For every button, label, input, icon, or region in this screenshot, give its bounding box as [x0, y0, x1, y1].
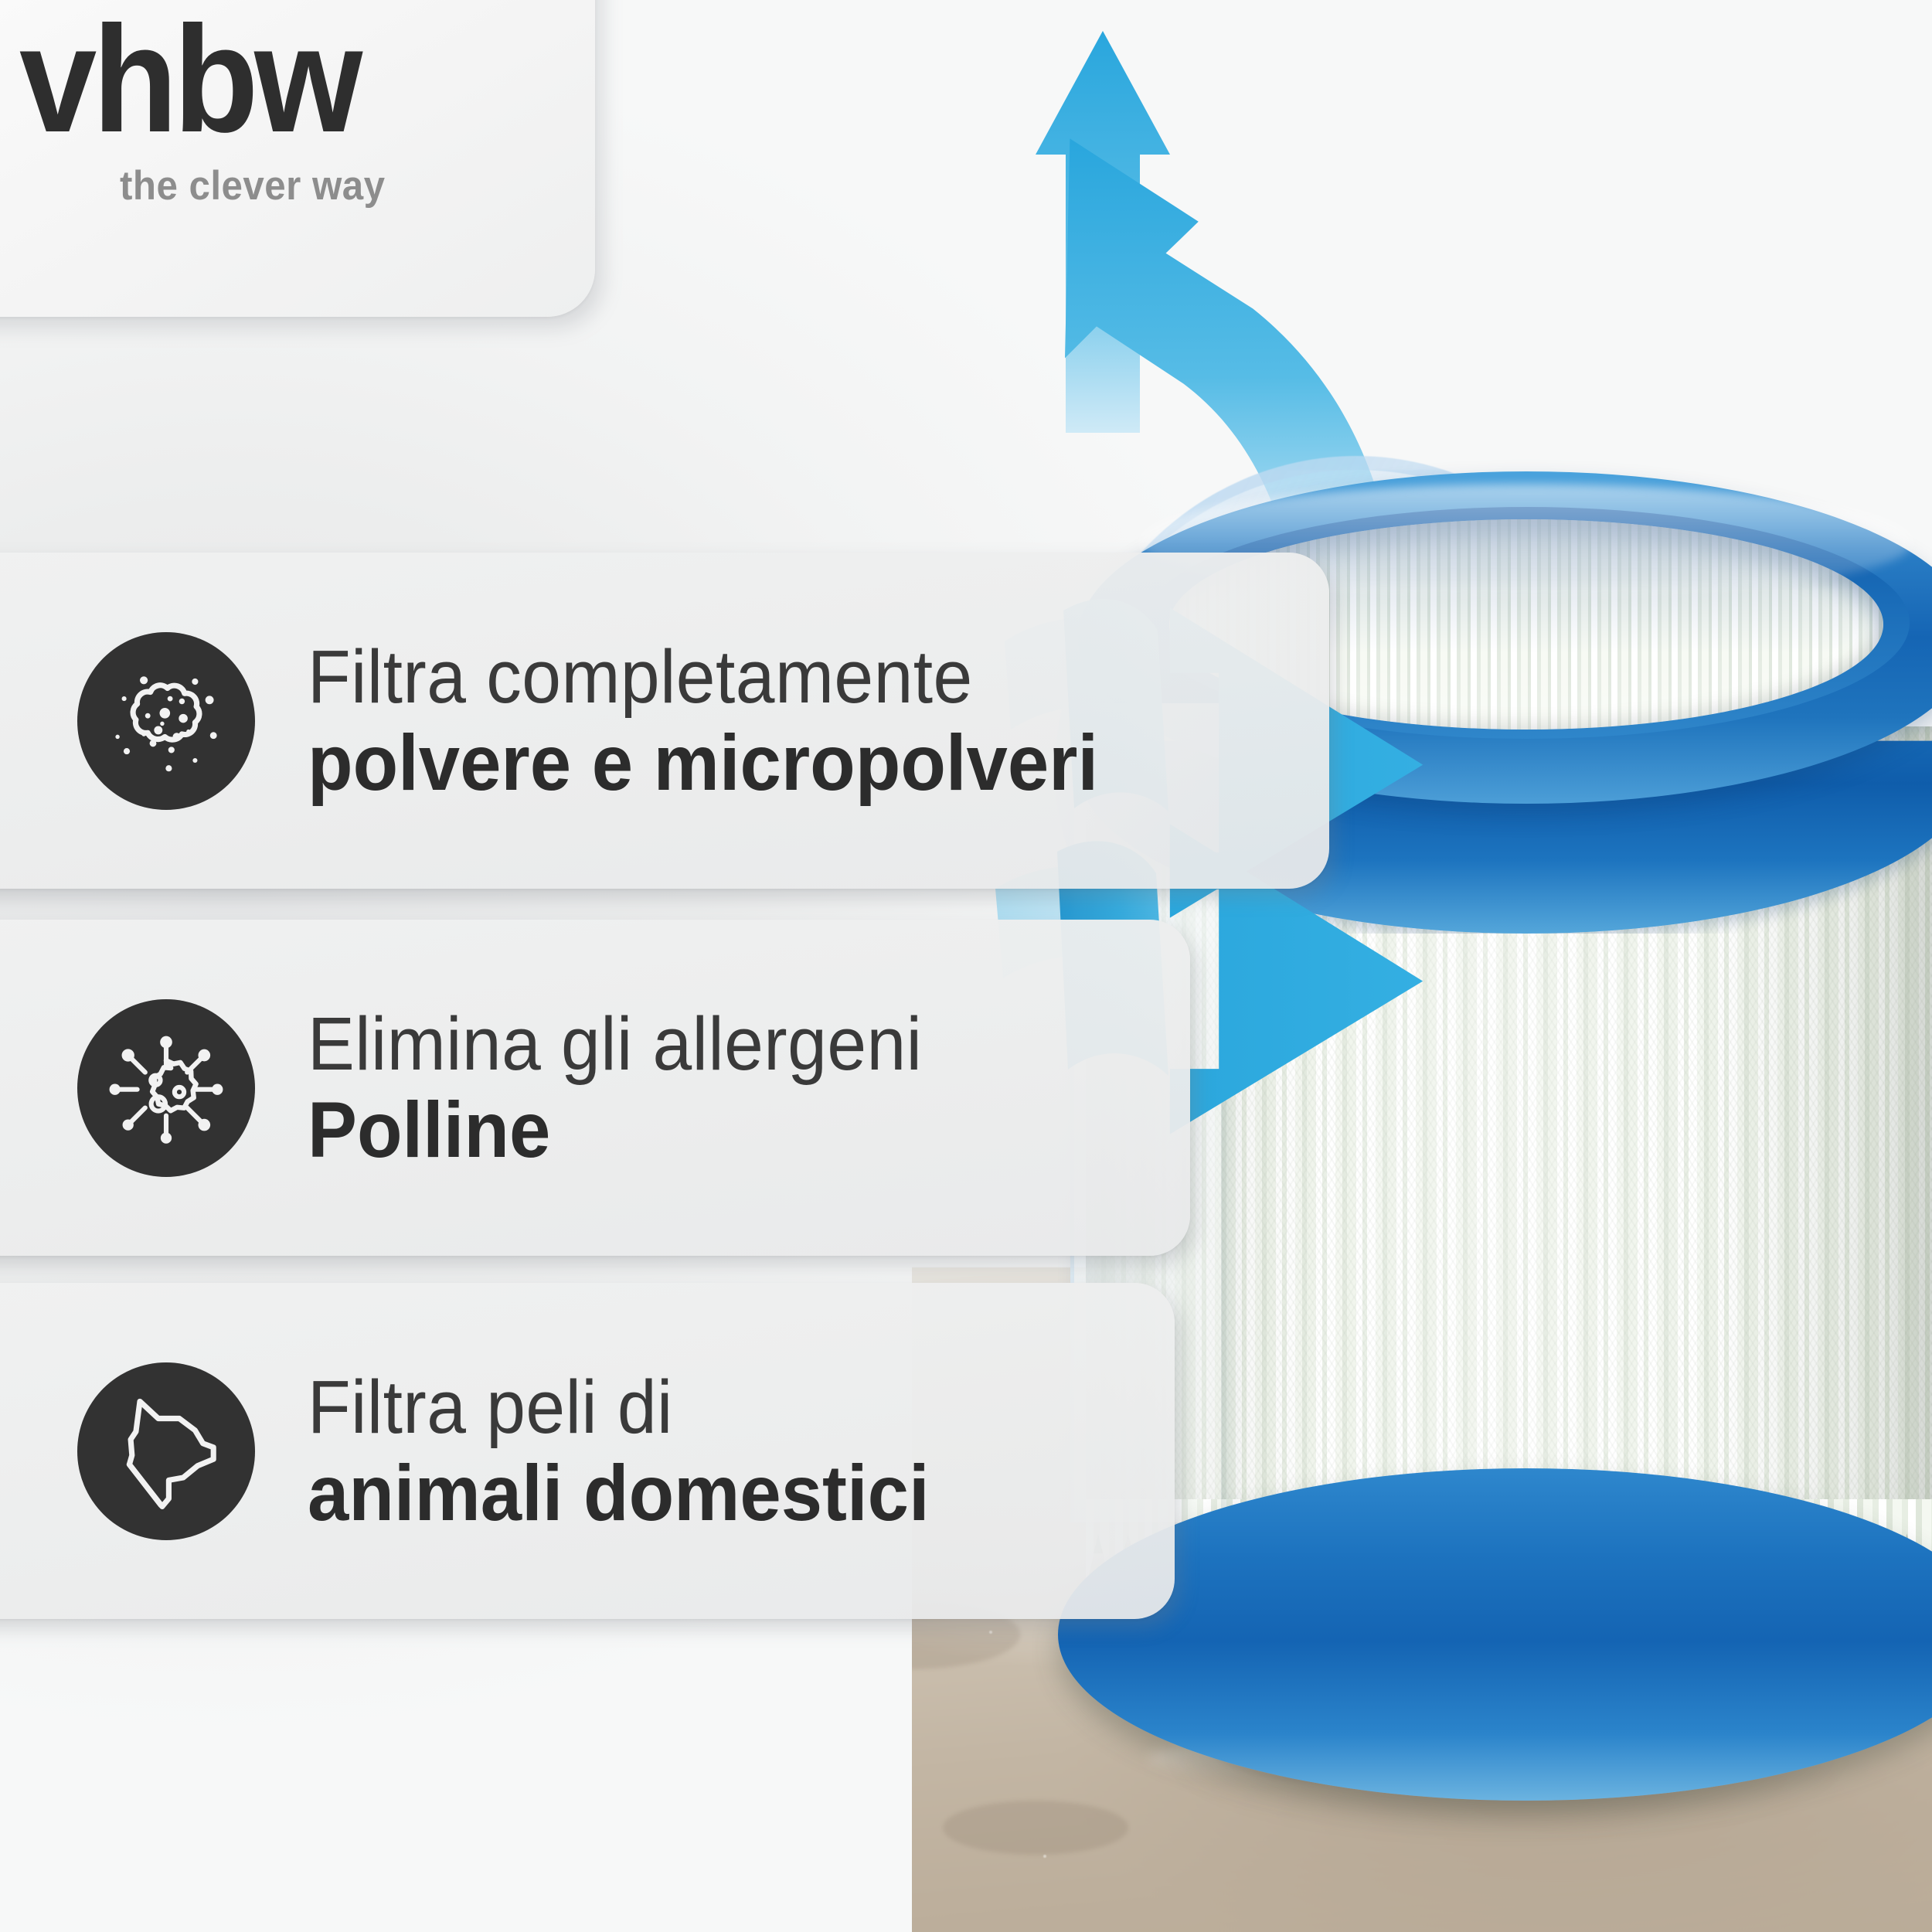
feature-card-pet-hair: Filtra peli di animali domestici: [0, 1283, 1175, 1619]
pollen-allergen-icon: [77, 999, 255, 1177]
feature-headline-bold: animali domestici: [308, 1451, 930, 1535]
feature-card-dust: Filtra completamente polvere e micropolv…: [0, 553, 1329, 889]
feature-headline-light: Elimina gli allergeni: [308, 1004, 922, 1084]
brand-wordmark: vhbw: [19, 4, 359, 155]
feature-text-pet-hair: Filtra peli di animali domestici: [308, 1367, 969, 1536]
feature-headline-bold: polvere e micropolveri: [308, 721, 1098, 804]
feature-headline-light: Filtra completamente: [308, 637, 1098, 717]
feature-headline-light: Filtra peli di: [308, 1367, 930, 1447]
brand-logo-card: vhbw the clever way: [0, 0, 595, 317]
feature-card-pollen: Elimina gli allergeni Polline: [0, 920, 1190, 1256]
product-marketing-banner: vhbw the clever way: [0, 0, 1932, 1932]
brand-tagline: the clever way: [120, 162, 386, 209]
feature-text-dust: Filtra completamente polvere e micropolv…: [308, 637, 1148, 805]
dog-head-icon: [77, 1362, 255, 1540]
feature-text-pollen: Elimina gli allergeni Polline: [308, 1004, 961, 1172]
feature-headline-bold: Polline: [308, 1088, 922, 1172]
dust-cloud-icon: [77, 632, 255, 810]
